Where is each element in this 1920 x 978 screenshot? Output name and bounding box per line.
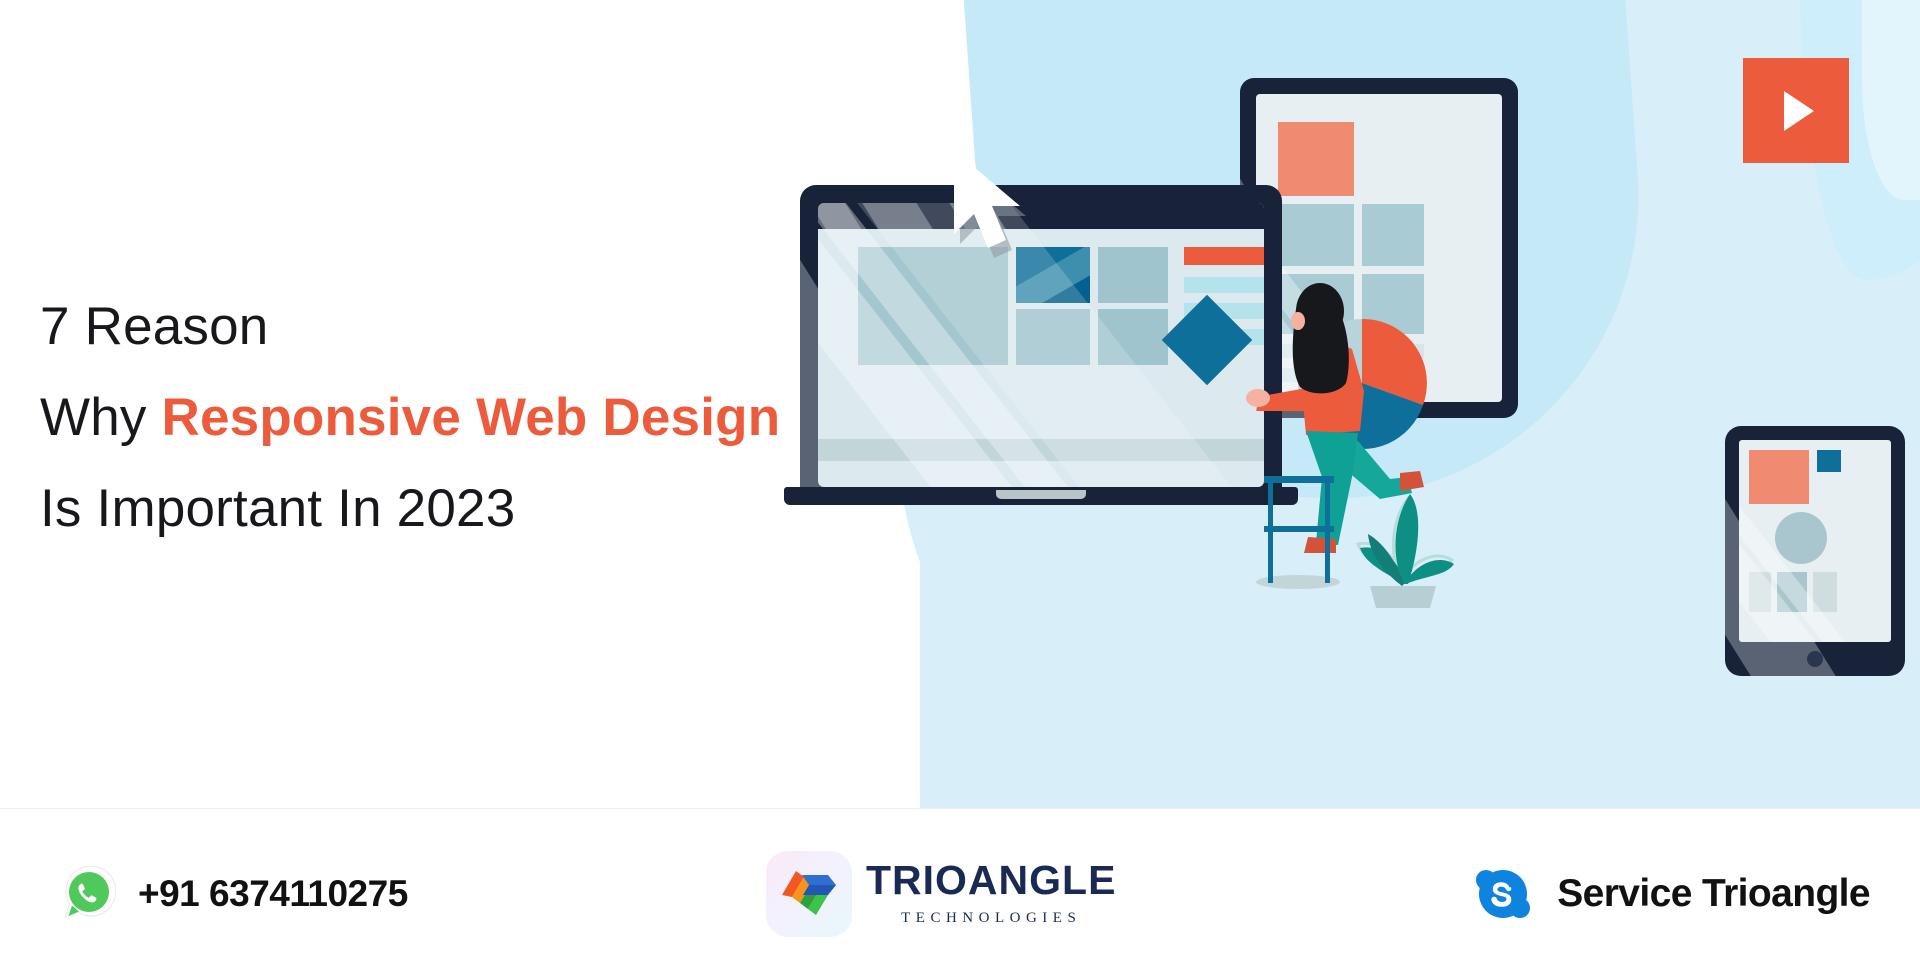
headline-block: 7 Reason Why Responsive Web Design Is Im… <box>40 300 860 535</box>
laptop-titlebar <box>818 203 1264 229</box>
trioangle-brand[interactable]: TRIOANGLE TECHNOLOGIES <box>766 809 1116 978</box>
headline-line-2-prefix: Why <box>40 388 162 447</box>
trioangle-logo-mark <box>766 851 852 937</box>
phone-home-button <box>1807 651 1823 667</box>
phone-bar-1 <box>1749 572 1771 612</box>
phone-bar-3 <box>1813 572 1837 612</box>
laptop-hero-tile <box>858 247 1008 365</box>
laptop-cta-bar <box>1184 247 1264 265</box>
skype-contact[interactable]: Service Trioangle <box>1473 809 1870 978</box>
headline-accent-text: Responsive Web Design <box>162 388 781 447</box>
trioangle-wordmark: TRIOANGLE TECHNOLOGIES <box>866 860 1116 927</box>
ladder-svg <box>1250 470 1350 590</box>
tablet-tile-hero <box>1278 122 1354 196</box>
headline-line-3: Is Important In 2023 <box>40 482 860 535</box>
phone-screen <box>1739 440 1891 642</box>
video-play-button[interactable] <box>1743 58 1849 163</box>
smartphone-device <box>1725 426 1905 676</box>
whatsapp-phone-number[interactable]: +91 6374110275 <box>138 873 408 915</box>
tablet-tile-a <box>1278 204 1354 266</box>
promo-banner: 7 Reason Why Responsive Web Design Is Im… <box>0 0 1920 978</box>
skype-service-label[interactable]: Service Trioangle <box>1557 872 1870 916</box>
phone-bar-2 <box>1777 572 1807 612</box>
phone-badge-tile <box>1817 450 1841 472</box>
whatsapp-contact[interactable]: +91 6374110275 <box>60 809 408 978</box>
tablet-tile-b <box>1362 204 1424 266</box>
skype-icon <box>1473 864 1533 924</box>
phone-hero-tile <box>1749 450 1809 504</box>
mouse-pointer-cursor <box>950 148 1040 258</box>
headline-line-1: 7 Reason <box>40 300 860 353</box>
laptop-tile-c <box>1098 309 1168 365</box>
hero-section: 7 Reason Why Responsive Web Design Is Im… <box>0 0 1920 808</box>
laptop-tile-a <box>1098 247 1168 303</box>
headline-line-2: Why Responsive Web Design <box>40 391 860 444</box>
laptop-footer-strip <box>818 439 1264 461</box>
trioangle-tagline: TECHNOLOGIES <box>901 910 1081 927</box>
plant-svg <box>1348 468 1458 608</box>
footer-bar: +91 6374110275 TRIOANGLE TECHNOLOGIES <box>0 808 1920 978</box>
play-triangle-icon <box>1784 91 1814 131</box>
step-ladder <box>1250 470 1350 590</box>
laptop-base-notch <box>996 490 1086 499</box>
trioangle-name: TRIOANGLE <box>866 860 1116 901</box>
laptop-tile-b <box>1016 309 1090 365</box>
phone-avatar-circle <box>1775 512 1827 564</box>
whatsapp-icon <box>60 866 116 922</box>
cursor-svg <box>950 148 1040 258</box>
potted-plant <box>1348 468 1458 608</box>
